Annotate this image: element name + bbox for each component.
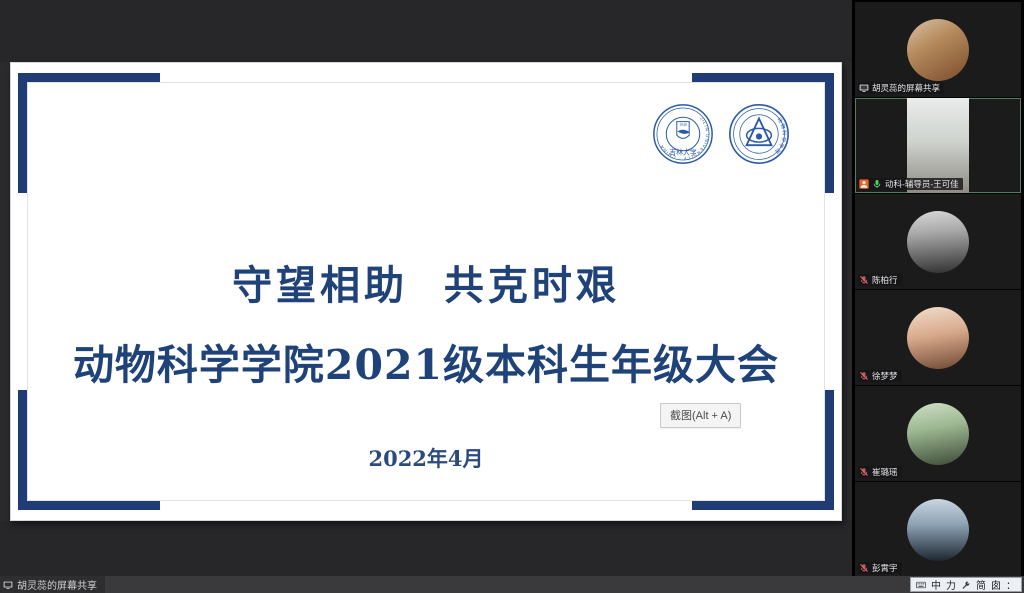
ime-mode-indicator[interactable]: 力 [946,577,956,592]
ime-punct-indicator[interactable]: 囱 [991,577,1001,592]
participant-name: 彭霄宇 [872,562,898,574]
ime-language-indicator[interactable]: 中 [931,577,941,592]
slide-date: 2022年4月 [28,443,824,473]
participant-name: 崔璐瑶 [872,466,898,478]
ime-colon-indicator[interactable]: ： [1006,577,1016,592]
participant-tile-4[interactable]: 徐梦梦 [855,290,1021,385]
corner-bracket-top-left-horizontal [18,73,160,82]
participant-name: 胡灵蕊的屏幕共享 [872,82,940,94]
meeting-screen-share-window: 1946 JILIN UNIVERSITY · CHINA 吉林大学 [0,0,1024,593]
avatar [907,307,969,369]
participant-label: 徐梦梦 [858,370,902,382]
screen-share-status[interactable]: 胡灵蕊的屏幕共享 [0,576,105,593]
participant-label: 胡灵蕊的屏幕共享 [858,82,944,94]
slide-subtitle: 动物科学学院2021级本科生年级大会 [28,331,824,391]
corner-bracket-bottom-left-horizontal [18,501,160,510]
corner-bracket-bottom-right-horizontal [692,501,834,510]
avatar [907,403,969,465]
letterbox-bottom [0,521,852,576]
slide-content-card: 1946 JILIN UNIVERSITY · CHINA 吉林大学 [27,82,825,501]
participant-tile-6[interactable]: 彭霄宇 [855,482,1021,577]
presentation-slide[interactable]: 1946 JILIN UNIVERSITY · CHINA 吉林大学 [10,62,842,521]
mic-muted-icon [859,371,869,381]
keyboard-icon[interactable] [916,580,926,590]
corner-bracket-bottom-left-vertical [18,390,27,510]
avatar [907,211,969,273]
slide-title: 守望相助 共克时艰 [28,253,824,311]
participant-tile-5[interactable]: 崔璐瑶 [855,386,1021,481]
college-of-animal-science-logo: 动物科学学院 [728,103,790,165]
taskbar: 胡灵蕊的屏幕共享 中 力 简 囱 ： [0,576,1024,593]
monitor-icon [3,580,13,590]
mic-muted-icon [859,467,869,477]
ime-status-tray[interactable]: 中 力 简 囱 ： [910,577,1022,592]
participant-tile-1[interactable]: 胡灵蕊的屏幕共享 [855,2,1021,97]
participant-tile-2[interactable]: 动科-辅导员-王可佳 [855,98,1021,193]
corner-bracket-top-right-horizontal [692,73,834,82]
tools-icon[interactable] [961,580,971,590]
corner-bracket-top-right-vertical [825,73,834,193]
avatar [907,19,969,81]
screen-share-status-label: 胡灵蕊的屏幕共享 [17,577,97,592]
speaking-mic-icon [872,179,882,189]
mic-muted-icon [859,275,869,285]
screenshot-shortcut-tooltip[interactable]: 截图(Alt + A) [660,403,741,428]
svg-text:吉林大学: 吉林大学 [669,147,696,156]
participant-name: 徐梦梦 [872,370,898,382]
participant-name: 陈柏行 [872,274,898,286]
ime-shape-indicator[interactable]: 简 [976,577,986,592]
avatar [907,499,969,561]
shared-screen-area[interactable]: 1946 JILIN UNIVERSITY · CHINA 吉林大学 [0,0,852,576]
participant-label: 崔璐瑶 [858,466,902,478]
screen-share-icon [859,83,869,93]
participant-label: 陈柏行 [858,274,902,286]
corner-bracket-bottom-right-vertical [825,390,834,510]
corner-bracket-top-left-vertical [18,73,27,193]
logo-group: 1946 JILIN UNIVERSITY · CHINA 吉林大学 [652,103,790,165]
mic-muted-icon [859,563,869,573]
letterbox-top [0,0,852,62]
participant-name: 动科-辅导员-王可佳 [885,178,959,190]
host-icon [859,179,869,189]
jilin-university-logo: 1946 JILIN UNIVERSITY · CHINA 吉林大学 [652,103,714,165]
participant-label: 彭霄宇 [858,562,902,574]
participant-filmstrip[interactable]: 胡灵蕊的屏幕共享 动科-辅导员-王可佳 [852,0,1024,576]
participant-tile-3[interactable]: 陈柏行 [855,194,1021,289]
participant-label: 动科-辅导员-王可佳 [858,178,963,190]
svg-text:1946: 1946 [679,123,687,127]
